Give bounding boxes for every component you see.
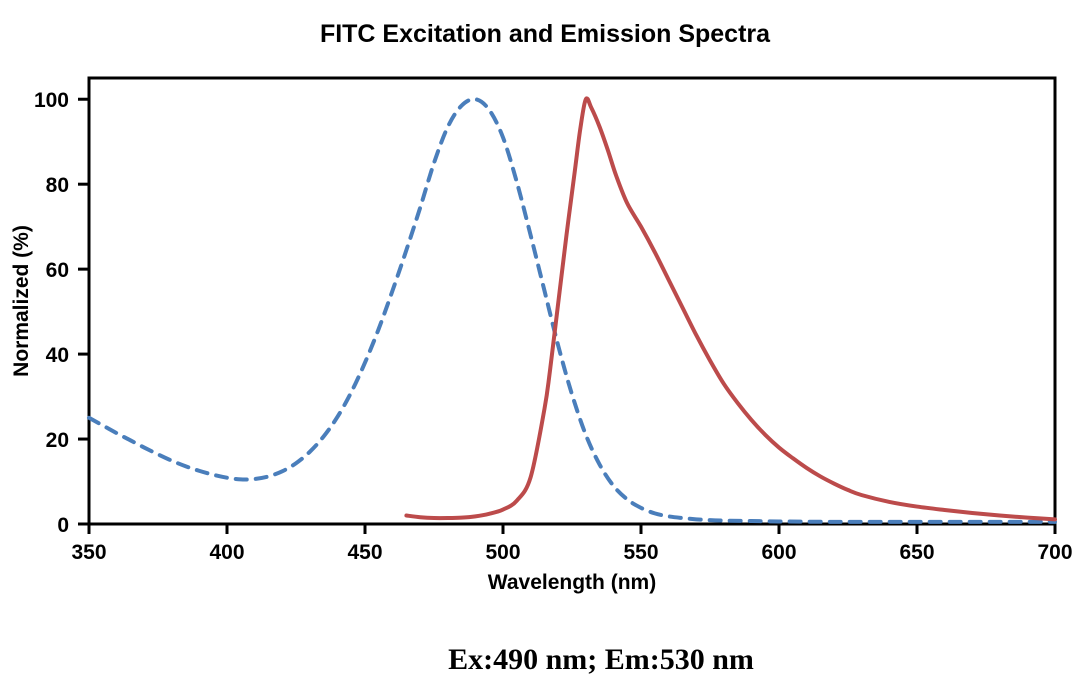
x-axis-title: Wavelength (nm) bbox=[488, 571, 656, 594]
spectra-chart-figure: FITC Excitation and Emission Spectra 350… bbox=[0, 0, 1090, 699]
chart-title: FITC Excitation and Emission Spectra bbox=[320, 20, 771, 48]
y-tick-label: 40 bbox=[46, 344, 69, 367]
figure-background bbox=[0, 0, 1090, 699]
y-tick-label: 100 bbox=[34, 89, 69, 112]
x-tick-label: 400 bbox=[209, 541, 244, 564]
x-tick-label: 450 bbox=[347, 541, 382, 564]
x-tick-label: 550 bbox=[623, 541, 658, 564]
x-tick-label: 350 bbox=[71, 541, 106, 564]
y-tick-label: 60 bbox=[46, 259, 69, 282]
figure-caption: Ex:490 nm; Em:530 nm bbox=[448, 643, 754, 676]
x-tick-label: 650 bbox=[899, 541, 934, 564]
x-tick-label: 600 bbox=[761, 541, 796, 564]
y-tick-label: 20 bbox=[46, 429, 69, 452]
y-tick-label: 0 bbox=[57, 514, 69, 537]
y-tick-label: 80 bbox=[46, 174, 69, 197]
x-tick-label: 500 bbox=[485, 541, 520, 564]
x-tick-label: 700 bbox=[1037, 541, 1072, 564]
y-axis-title: Normalized (%) bbox=[10, 225, 33, 377]
